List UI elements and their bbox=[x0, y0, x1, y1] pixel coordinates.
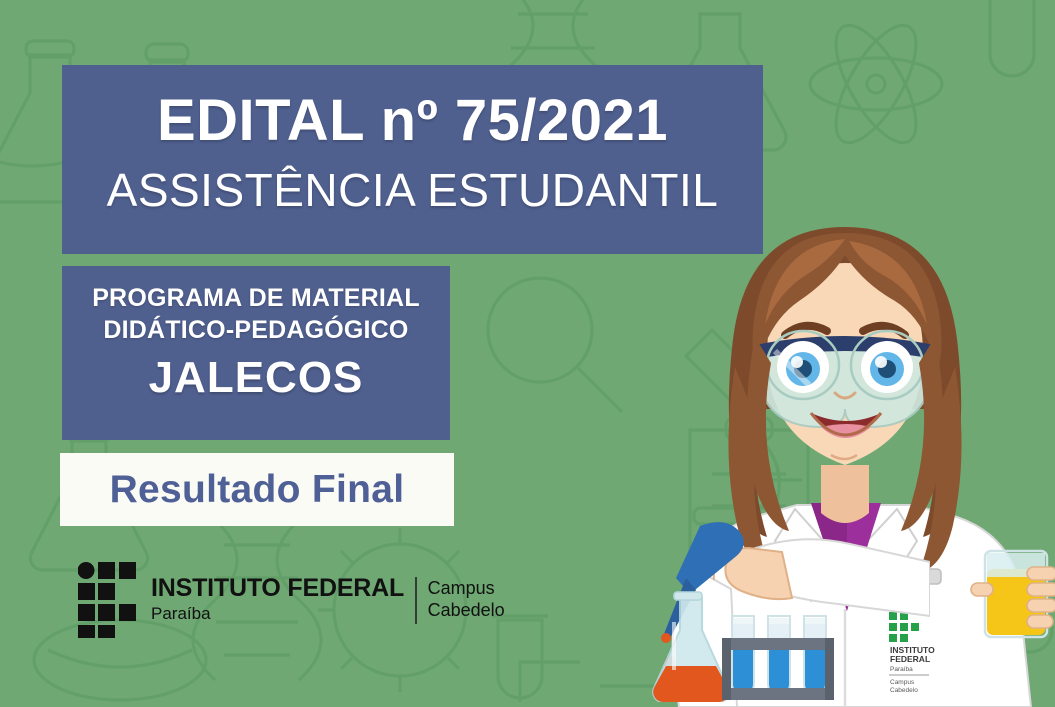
sleeved-forearm bbox=[714, 539, 930, 616]
logo-state-name: Paraíba bbox=[151, 603, 404, 624]
logo-campus-label: Campus bbox=[428, 578, 505, 600]
lab-equipment-group bbox=[630, 512, 930, 707]
erlenmeyer-flask bbox=[653, 592, 729, 702]
result-block: Resultado Final bbox=[60, 453, 454, 526]
program-line-1: PROGRAMA DE MATERIAL bbox=[62, 283, 450, 315]
if-logo-mark bbox=[78, 562, 142, 638]
program-highlight: JALECOS bbox=[62, 354, 450, 402]
result-label: Resultado Final bbox=[110, 468, 405, 512]
logo-campus-names: Campus Cabedelo bbox=[428, 578, 505, 622]
logo-divider bbox=[415, 577, 417, 624]
edital-subtitle: ASSISTÊNCIA ESTUDANTIL bbox=[62, 166, 763, 214]
poster-canvas: INSTITUTO FEDERAL Paraíba Campus Cabedel… bbox=[0, 0, 1055, 707]
program-line-2: DIDÁTICO-PEDAGÓGICO bbox=[62, 315, 450, 347]
edital-title-block: EDITAL nº 75/2021 ASSISTÊNCIA ESTUDANTIL bbox=[62, 65, 763, 254]
edital-number: EDITAL nº 75/2021 bbox=[62, 91, 763, 150]
logo-institute-name: INSTITUTO FEDERAL bbox=[151, 576, 404, 601]
program-block: PROGRAMA DE MATERIAL DIDÁTICO-PEDAGÓGICO… bbox=[62, 266, 450, 440]
logo-institute-names: INSTITUTO FEDERAL Paraíba bbox=[151, 576, 404, 624]
institutional-logo: INSTITUTO FEDERAL Paraíba Campus Cabedel… bbox=[78, 562, 505, 638]
test-tube-rack bbox=[722, 616, 834, 700]
logo-wordmark: INSTITUTO FEDERAL Paraíba Campus Cabedel… bbox=[151, 576, 505, 624]
logo-campus-name: Cabedelo bbox=[428, 600, 505, 622]
safety-goggles bbox=[755, 331, 935, 427]
